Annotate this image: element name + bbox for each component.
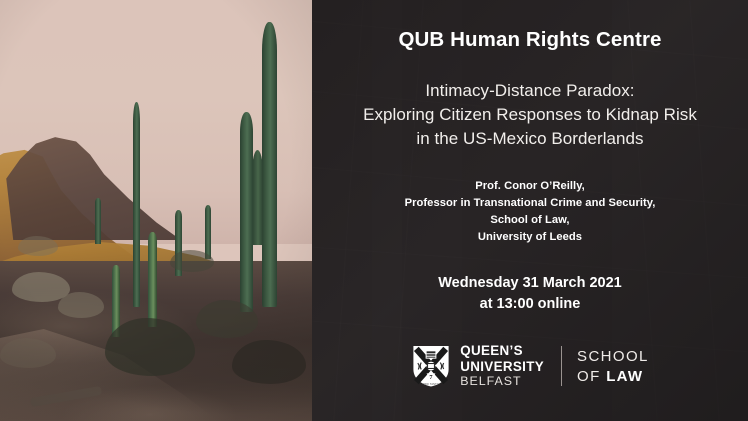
shrub bbox=[58, 292, 104, 318]
subtitle-line: Exploring Citizen Responses to Kidnap Ri… bbox=[363, 103, 697, 127]
subtitle-line: in the US-Mexico Borderlands bbox=[363, 127, 697, 151]
school-of-law-wordmark: SCHOOL OF LAW bbox=[577, 349, 649, 384]
school-line-of-law: OF LAW bbox=[577, 369, 649, 384]
event-time: at 13:00 online bbox=[438, 294, 622, 315]
speaker-details: Prof. Conor O’Reilly, Professor in Trans… bbox=[405, 178, 656, 246]
saguaro-cactus-midground-e bbox=[95, 198, 101, 244]
saguaro-cactus-tall bbox=[262, 22, 277, 307]
saguaro-arm bbox=[252, 150, 263, 245]
desert-photo bbox=[0, 0, 312, 421]
shrub bbox=[170, 250, 214, 272]
event-date: Wednesday 31 March 2021 bbox=[438, 273, 622, 294]
saguaro-cactus-medium bbox=[240, 112, 253, 312]
shrub bbox=[18, 236, 58, 256]
speaker-name: Prof. Conor O’Reilly, bbox=[405, 178, 656, 195]
saguaro-cactus-slim bbox=[133, 102, 140, 307]
page-title: QUB Human Rights Centre bbox=[398, 28, 661, 52]
talk-subtitle: Intimacy-Distance Paradox: Exploring Cit… bbox=[363, 79, 697, 151]
school-line-school: SCHOOL bbox=[577, 349, 649, 364]
speaker-role: Professor in Transnational Crime and Sec… bbox=[405, 195, 656, 212]
logo-lockup: 7 PRO TANTO QUEEN’S UNIVERSITY BELFAST S… bbox=[312, 344, 748, 388]
school-law-text: LAW bbox=[606, 368, 643, 385]
wordmark-university: UNIVERSITY bbox=[460, 360, 544, 373]
qub-wordmark: QUEEN’S UNIVERSITY BELFAST bbox=[460, 344, 544, 388]
event-poster: QUB Human Rights Centre Intimacy-Distanc… bbox=[0, 0, 748, 421]
shrub bbox=[0, 338, 56, 368]
logo-divider bbox=[561, 346, 562, 386]
wordmark-belfast: BELFAST bbox=[460, 375, 544, 387]
speaker-school: School of Law, bbox=[405, 212, 656, 229]
svg-text:PRO TANTO: PRO TANTO bbox=[423, 383, 439, 386]
saguaro-cactus-midground-a bbox=[148, 232, 157, 327]
speaker-institution: University of Leeds bbox=[405, 229, 656, 246]
subtitle-line: Intimacy-Distance Paradox: bbox=[363, 79, 697, 103]
saguaro-cactus-midground-d bbox=[205, 205, 211, 259]
queens-university-belfast-crest-icon: 7 PRO TANTO bbox=[411, 344, 451, 388]
event-datetime: Wednesday 31 March 2021 at 13:00 online bbox=[438, 273, 622, 314]
content-panel: QUB Human Rights Centre Intimacy-Distanc… bbox=[312, 0, 748, 421]
school-of-text: OF bbox=[577, 368, 606, 385]
wordmark-queens: QUEEN’S bbox=[460, 344, 544, 357]
